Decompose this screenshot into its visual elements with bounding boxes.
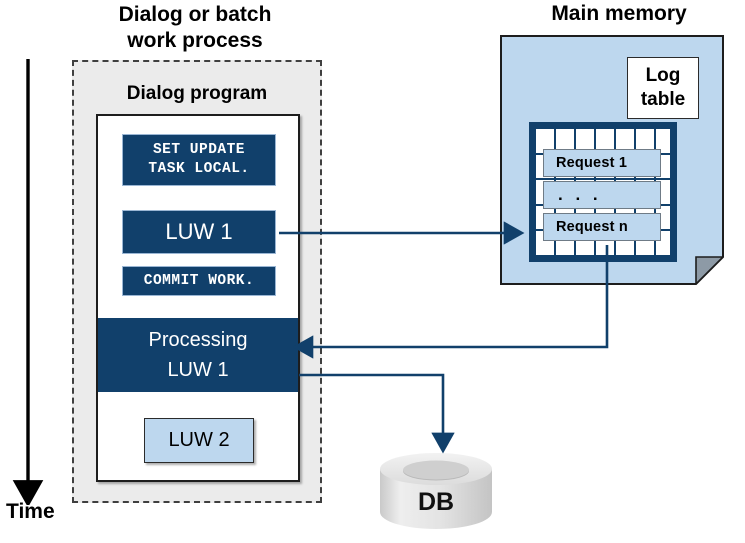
log-table-line2: table — [641, 88, 685, 112]
work-process-title-line2: work process — [70, 28, 320, 54]
request-table: Request 1 . . . Request n — [529, 122, 677, 262]
log-table-box: Log table — [627, 57, 699, 119]
time-axis-label: Time — [6, 500, 55, 524]
step-commit-work[interactable]: COMMIT WORK. — [122, 266, 276, 296]
set-update-line1: SET UPDATE — [148, 141, 249, 160]
time-axis-arrow — [0, 55, 70, 505]
request-row: . . . — [543, 181, 661, 209]
step-set-update-task-local[interactable]: SET UPDATE TASK LOCAL. — [122, 134, 276, 186]
main-memory-title: Main memory — [500, 2, 738, 26]
dialog-program-title: Dialog program — [72, 83, 322, 105]
work-process-title: Dialog or batch work process — [70, 2, 320, 54]
request-row[interactable]: Request 1 — [543, 149, 661, 177]
processing-line2: LUW 1 — [149, 355, 248, 385]
step-processing-luw-1[interactable]: Processing LUW 1 — [98, 318, 298, 392]
log-table-line1: Log — [641, 64, 685, 88]
step-luw-2[interactable]: LUW 2 — [144, 418, 254, 463]
set-update-line2: TASK LOCAL. — [148, 160, 249, 179]
database-cylinder-icon: DB — [378, 452, 494, 532]
step-luw-1[interactable]: LUW 1 — [122, 210, 276, 254]
work-process-title-line1: Dialog or batch — [70, 2, 320, 28]
database-label: DB — [418, 488, 454, 516]
processing-line1: Processing — [149, 325, 248, 355]
request-row[interactable]: Request n — [543, 213, 661, 241]
